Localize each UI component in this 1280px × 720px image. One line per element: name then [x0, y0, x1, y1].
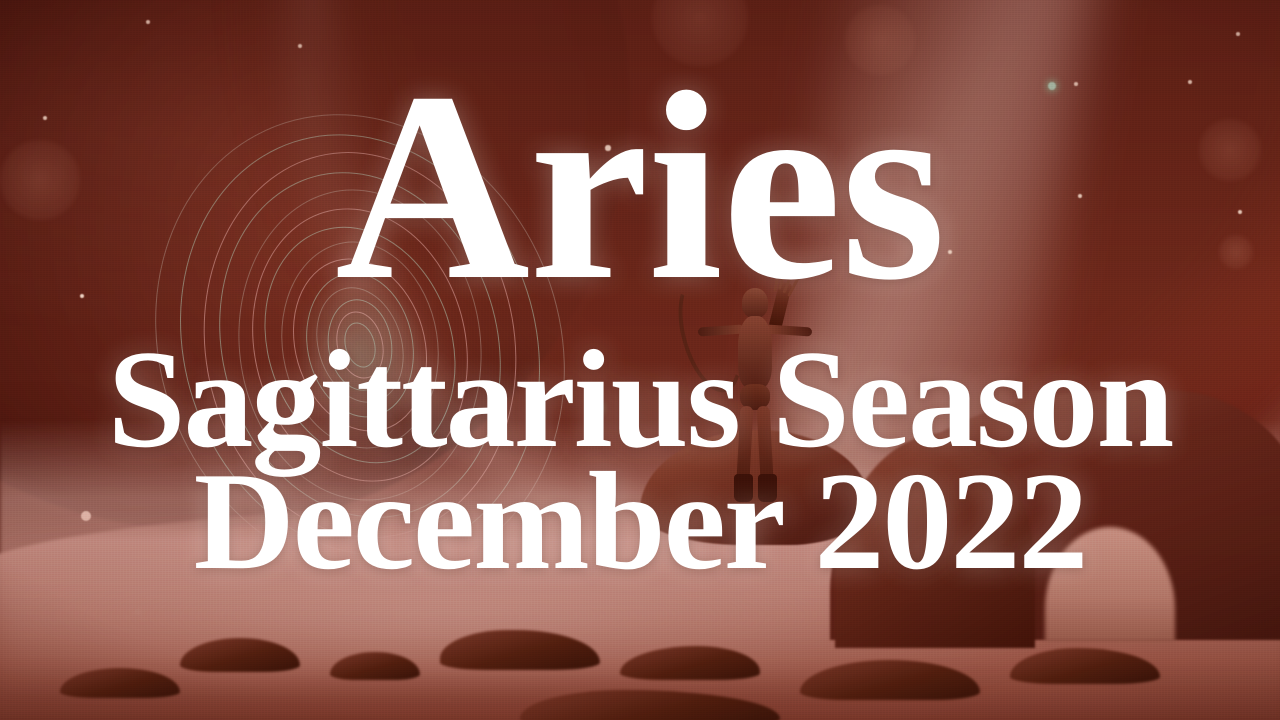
film-grain-overlay [0, 0, 1280, 720]
video-thumbnail-canvas: Aries Sagittarius Season December 2022 [0, 0, 1280, 720]
